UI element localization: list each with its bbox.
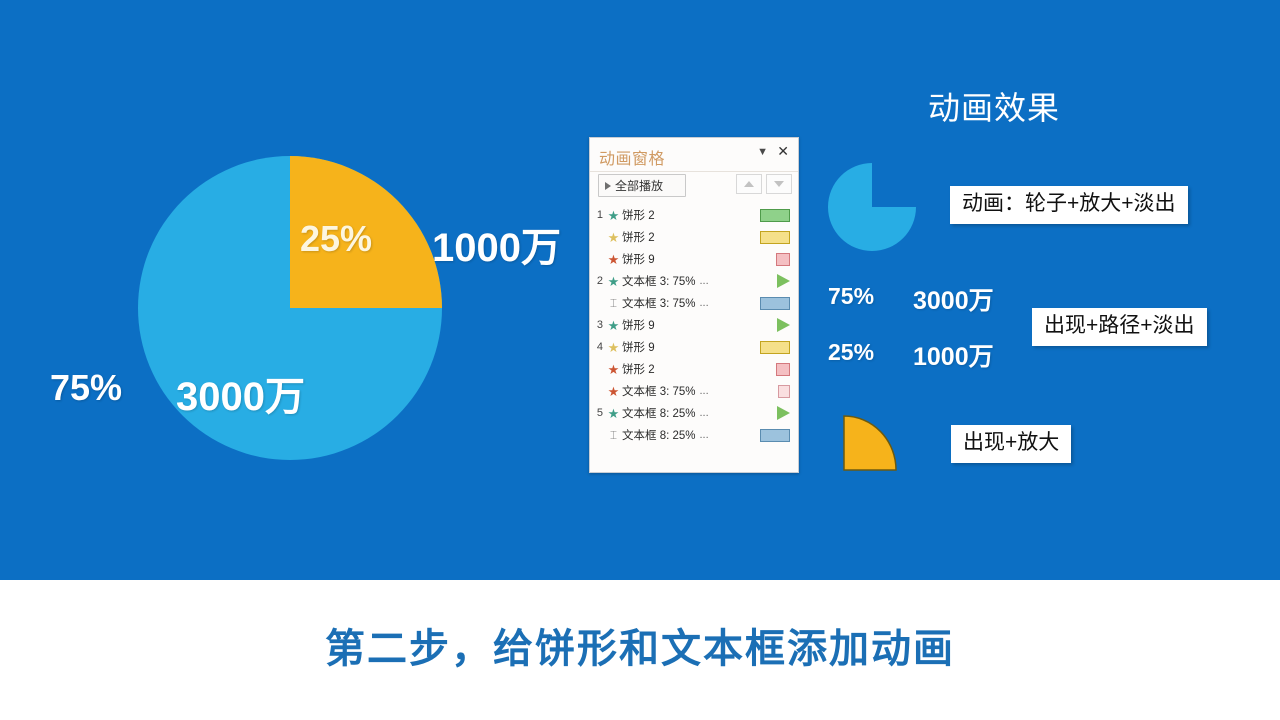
animation-item-label: 饼形 9 (622, 339, 655, 355)
animation-item-label: 饼形 2 (622, 361, 655, 377)
animation-list-item[interactable]: ★饼形 2 (590, 226, 798, 248)
play-icon (605, 182, 611, 190)
pie-label-blue-percent: 75% (50, 367, 122, 409)
animation-timeline-bar[interactable] (776, 363, 790, 376)
overflow-ellipsis: ... (700, 429, 709, 441)
animation-order-number: 2 (590, 275, 605, 287)
animation-timeline-bar[interactable] (760, 341, 790, 354)
animation-item-label: 饼形 9 (622, 251, 655, 267)
animation-item-label: 文本框 8: 25% (622, 405, 696, 421)
animation-timeline-bar[interactable] (778, 385, 790, 398)
callout-animation-path: 出现+路径+淡出 (1032, 308, 1207, 346)
animation-list-item[interactable]: 3★饼形 9 (590, 314, 798, 336)
move-later-button[interactable] (766, 174, 792, 194)
star-icon: ★ (605, 231, 622, 244)
chevron-down-icon[interactable]: ▼ (757, 147, 768, 158)
animation-pane-header: 动画窗格 ▼ ✕ (590, 138, 798, 172)
overflow-ellipsis: ... (700, 385, 709, 397)
play-all-label: 全部播放 (615, 177, 663, 194)
overflow-ellipsis: ... (700, 297, 709, 309)
animation-timeline-bar[interactable] (760, 429, 790, 442)
animation-timeline-bar[interactable] (777, 274, 790, 288)
animation-item-label: 饼形 2 (622, 229, 655, 245)
pie-label-blue-value: 3000万 (176, 364, 305, 422)
animation-item-label: 文本框 8: 25% (622, 427, 696, 443)
animation-timeline-bar[interactable] (777, 406, 790, 420)
motion-path-icon: ⌶ (605, 429, 622, 441)
star-icon: ★ (605, 253, 622, 266)
motion-path-icon: ⌶ (605, 297, 622, 309)
overflow-ellipsis: ... (700, 275, 709, 287)
pie-label-yellow-value: 1000万 (432, 215, 561, 273)
animation-item-label: 文本框 3: 75% (622, 383, 696, 399)
stat-25-percent: 25% (828, 339, 874, 366)
animation-timeline-bar[interactable] (777, 318, 790, 332)
callout-animation-wheel: 动画：轮子+放大+淡出 (950, 186, 1188, 224)
star-icon: ★ (605, 341, 622, 354)
animation-list[interactable]: 1★饼形 2★饼形 2★饼形 92★文本框 3: 75%...⌶文本框 3: 7… (590, 204, 798, 446)
animation-list-item[interactable]: ⌶文本框 8: 25%... (590, 424, 798, 446)
play-all-button[interactable]: 全部播放 (598, 174, 686, 197)
mini-pie-shape-icon (828, 163, 916, 251)
animation-order-number: 3 (590, 319, 605, 331)
mini-wedge-shape-icon (838, 412, 900, 474)
animation-order-number: 1 (590, 209, 605, 221)
animation-item-label: 文本框 3: 75% (622, 273, 696, 289)
animation-pane-toolbar: 全部播放 (590, 172, 798, 202)
animation-item-label: 文本框 3: 75% (622, 295, 696, 311)
animation-list-item[interactable]: ★饼形 2 (590, 358, 798, 380)
stat-75-percent: 75% (828, 283, 874, 310)
stat-25-value: 1000万 (913, 337, 994, 373)
animation-list-item[interactable]: 2★文本框 3: 75%... (590, 270, 798, 292)
animation-timeline-bar[interactable] (760, 231, 790, 244)
slide-canvas: 25% 1000万 75% 3000万 动画窗格 ▼ ✕ 全部播放 1★饼形 2… (0, 0, 1280, 720)
animation-timeline-bar[interactable] (760, 297, 790, 310)
animation-list-item[interactable]: 1★饼形 2 (590, 204, 798, 226)
bottom-caption: 第二步，给饼形和文本框添加动画 (0, 616, 1280, 674)
animation-list-item[interactable]: 4★饼形 9 (590, 336, 798, 358)
animation-item-label: 饼形 9 (622, 317, 655, 333)
star-icon: ★ (605, 407, 622, 420)
animation-order-number: 5 (590, 407, 605, 419)
stat-75-value: 3000万 (913, 281, 994, 317)
effects-panel-title: 动画效果 (928, 83, 1060, 129)
callout-animation-grow: 出现+放大 (951, 425, 1071, 463)
move-earlier-button[interactable] (736, 174, 762, 194)
triangle-up-icon (744, 181, 754, 187)
animation-pane-title: 动画窗格 (599, 145, 665, 169)
animation-timeline-bar[interactable] (760, 209, 790, 222)
star-icon: ★ (605, 363, 622, 376)
animation-pane: 动画窗格 ▼ ✕ 全部播放 1★饼形 2★饼形 2★饼形 92★文本框 3: 7… (589, 137, 799, 473)
overflow-ellipsis: ... (700, 407, 709, 419)
animation-list-item[interactable]: ⌶文本框 3: 75%... (590, 292, 798, 314)
animation-item-label: 饼形 2 (622, 207, 655, 223)
star-icon: ★ (605, 385, 622, 398)
animation-list-item[interactable]: ★文本框 3: 75%... (590, 380, 798, 402)
animation-timeline-bar[interactable] (776, 253, 790, 266)
star-icon: ★ (605, 319, 622, 332)
triangle-down-icon (774, 181, 784, 187)
animation-list-item[interactable]: ★饼形 9 (590, 248, 798, 270)
star-icon: ★ (605, 275, 622, 288)
pie-label-yellow-percent: 25% (300, 218, 372, 260)
star-icon: ★ (605, 209, 622, 222)
animation-list-item[interactable]: 5★文本框 8: 25%... (590, 402, 798, 424)
animation-order-number: 4 (590, 341, 605, 353)
close-icon[interactable]: ✕ (777, 144, 789, 158)
